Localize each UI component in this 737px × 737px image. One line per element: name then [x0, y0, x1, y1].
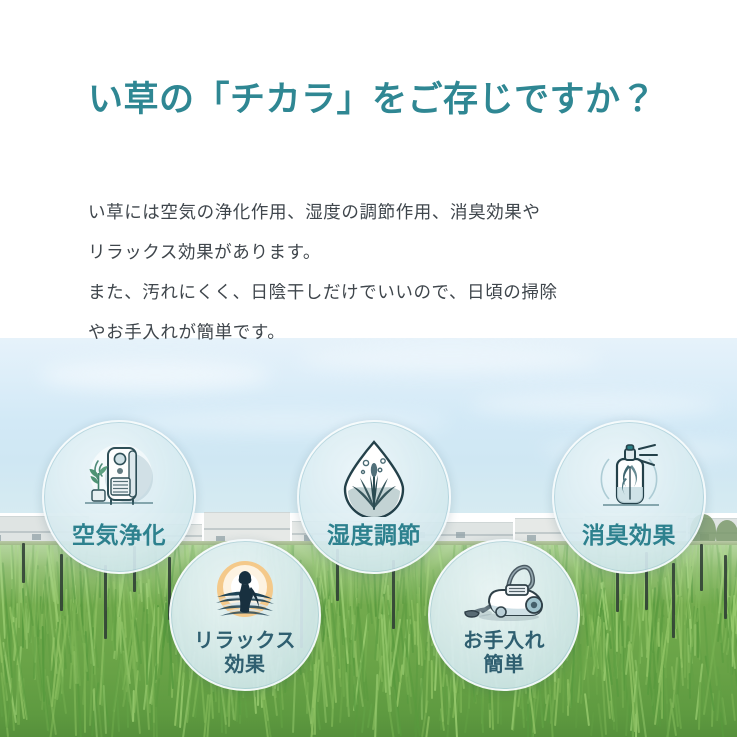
feature-badges: 空気浄化 [0, 0, 737, 737]
badge-label: お手入れ 簡単 [463, 630, 545, 677]
badge-label: リラックス 効果 [194, 630, 296, 677]
air-purifier-icon [44, 422, 194, 520]
badge-label: 消臭効果 [582, 522, 676, 549]
relax-wave-icon [171, 541, 319, 629]
spray-bottle-icon [554, 422, 704, 520]
badge-label: 湿度調節 [327, 522, 421, 549]
badge-easy-care[interactable]: お手入れ 簡単 [428, 539, 580, 691]
vacuum-cleaner-icon [430, 541, 578, 629]
badge-label: 空気浄化 [72, 522, 166, 549]
promo-page: い草の「チカラ」をご存じですか？ い草には空気の浄化作用、湿度の調節作用、消臭効… [0, 0, 737, 737]
water-droplet-icon [299, 422, 449, 520]
badge-humidity-control[interactable]: 湿度調節 [297, 420, 451, 574]
badge-relaxation[interactable]: リラックス 効果 [169, 539, 321, 691]
